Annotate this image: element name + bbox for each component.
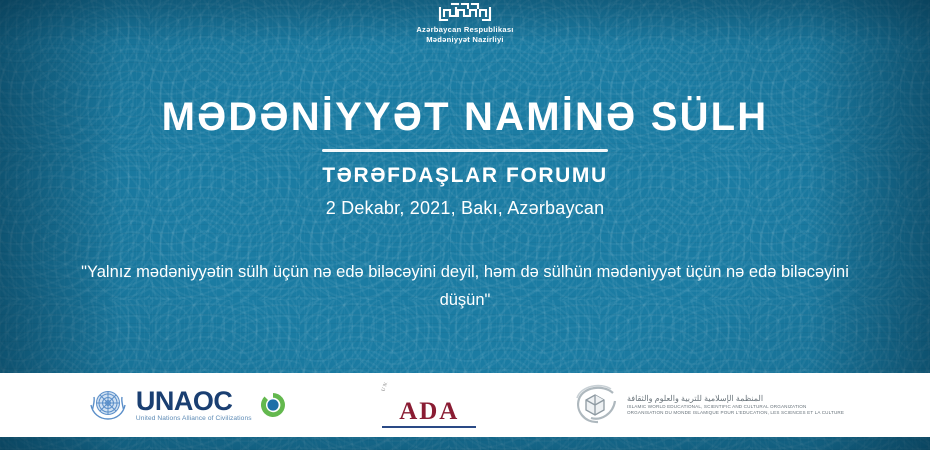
- headline-block: MƏDƏNİYYƏT NAMİNƏ SÜLH TƏRƏFDAŞLAR FORUM…: [0, 94, 930, 219]
- unaoc-tagline: United Nations Alliance of Civilizations: [136, 415, 252, 423]
- unaoc-logo: UNAOC United Nations Alliance of Civiliz…: [86, 383, 286, 427]
- ministry-line-2: Mədəniyyət Nazirliyi: [426, 35, 504, 45]
- isesco-swirl-cube-emblem: [573, 383, 619, 427]
- ministry-lockup: Azərbaycan Respublikası Mədəniyyət Nazir…: [0, 2, 930, 45]
- title-divider-rule: [322, 149, 608, 152]
- ministry-knot-emblem: [434, 2, 496, 24]
- event-title: MƏDƏNİYYƏT NAMİNƏ SÜLH: [0, 94, 930, 140]
- banner-content: Azərbaycan Respublikası Mədəniyyət Nazir…: [0, 0, 930, 450]
- svg-text:UNİVERSİTET ★ UNIVERSITY: UNİVERSİTET ★ UNIVERSITY: [381, 382, 466, 392]
- event-date-location: 2 Dekabr, 2021, Bakı, Azərbaycan: [0, 197, 930, 219]
- event-banner: Azərbaycan Respublikası Mədəniyyət Nazir…: [0, 0, 930, 450]
- isesco-french-name: ORGANISATION DU MONDE ISLAMIQUE POUR L'E…: [627, 410, 844, 416]
- event-quote: "Yalnız mədəniyyətin sülh üçün nə edə bi…: [60, 258, 870, 314]
- ada-underline-bar: [382, 426, 476, 428]
- unaoc-swirl-icon: [260, 392, 286, 418]
- ada-university-logo: UNİVERSİTET ★ UNIVERSITY ADA: [377, 382, 481, 428]
- isesco-arabic-name: المنظمة الإسلامية للتربية والعلوم والثقا…: [627, 394, 844, 404]
- united-nations-emblem: [86, 383, 130, 427]
- isesco-logo: المنظمة الإسلامية للتربية والعلوم والثقا…: [573, 383, 844, 427]
- ada-wordmark: ADA: [399, 399, 459, 424]
- unaoc-wordmark: UNAOC: [136, 388, 252, 414]
- ministry-line-1: Azərbaycan Respublikası: [416, 25, 513, 35]
- event-subtitle: TƏRƏFDAŞLAR FORUMU: [0, 163, 930, 188]
- partner-logo-band: UNAOC United Nations Alliance of Civiliz…: [0, 373, 930, 437]
